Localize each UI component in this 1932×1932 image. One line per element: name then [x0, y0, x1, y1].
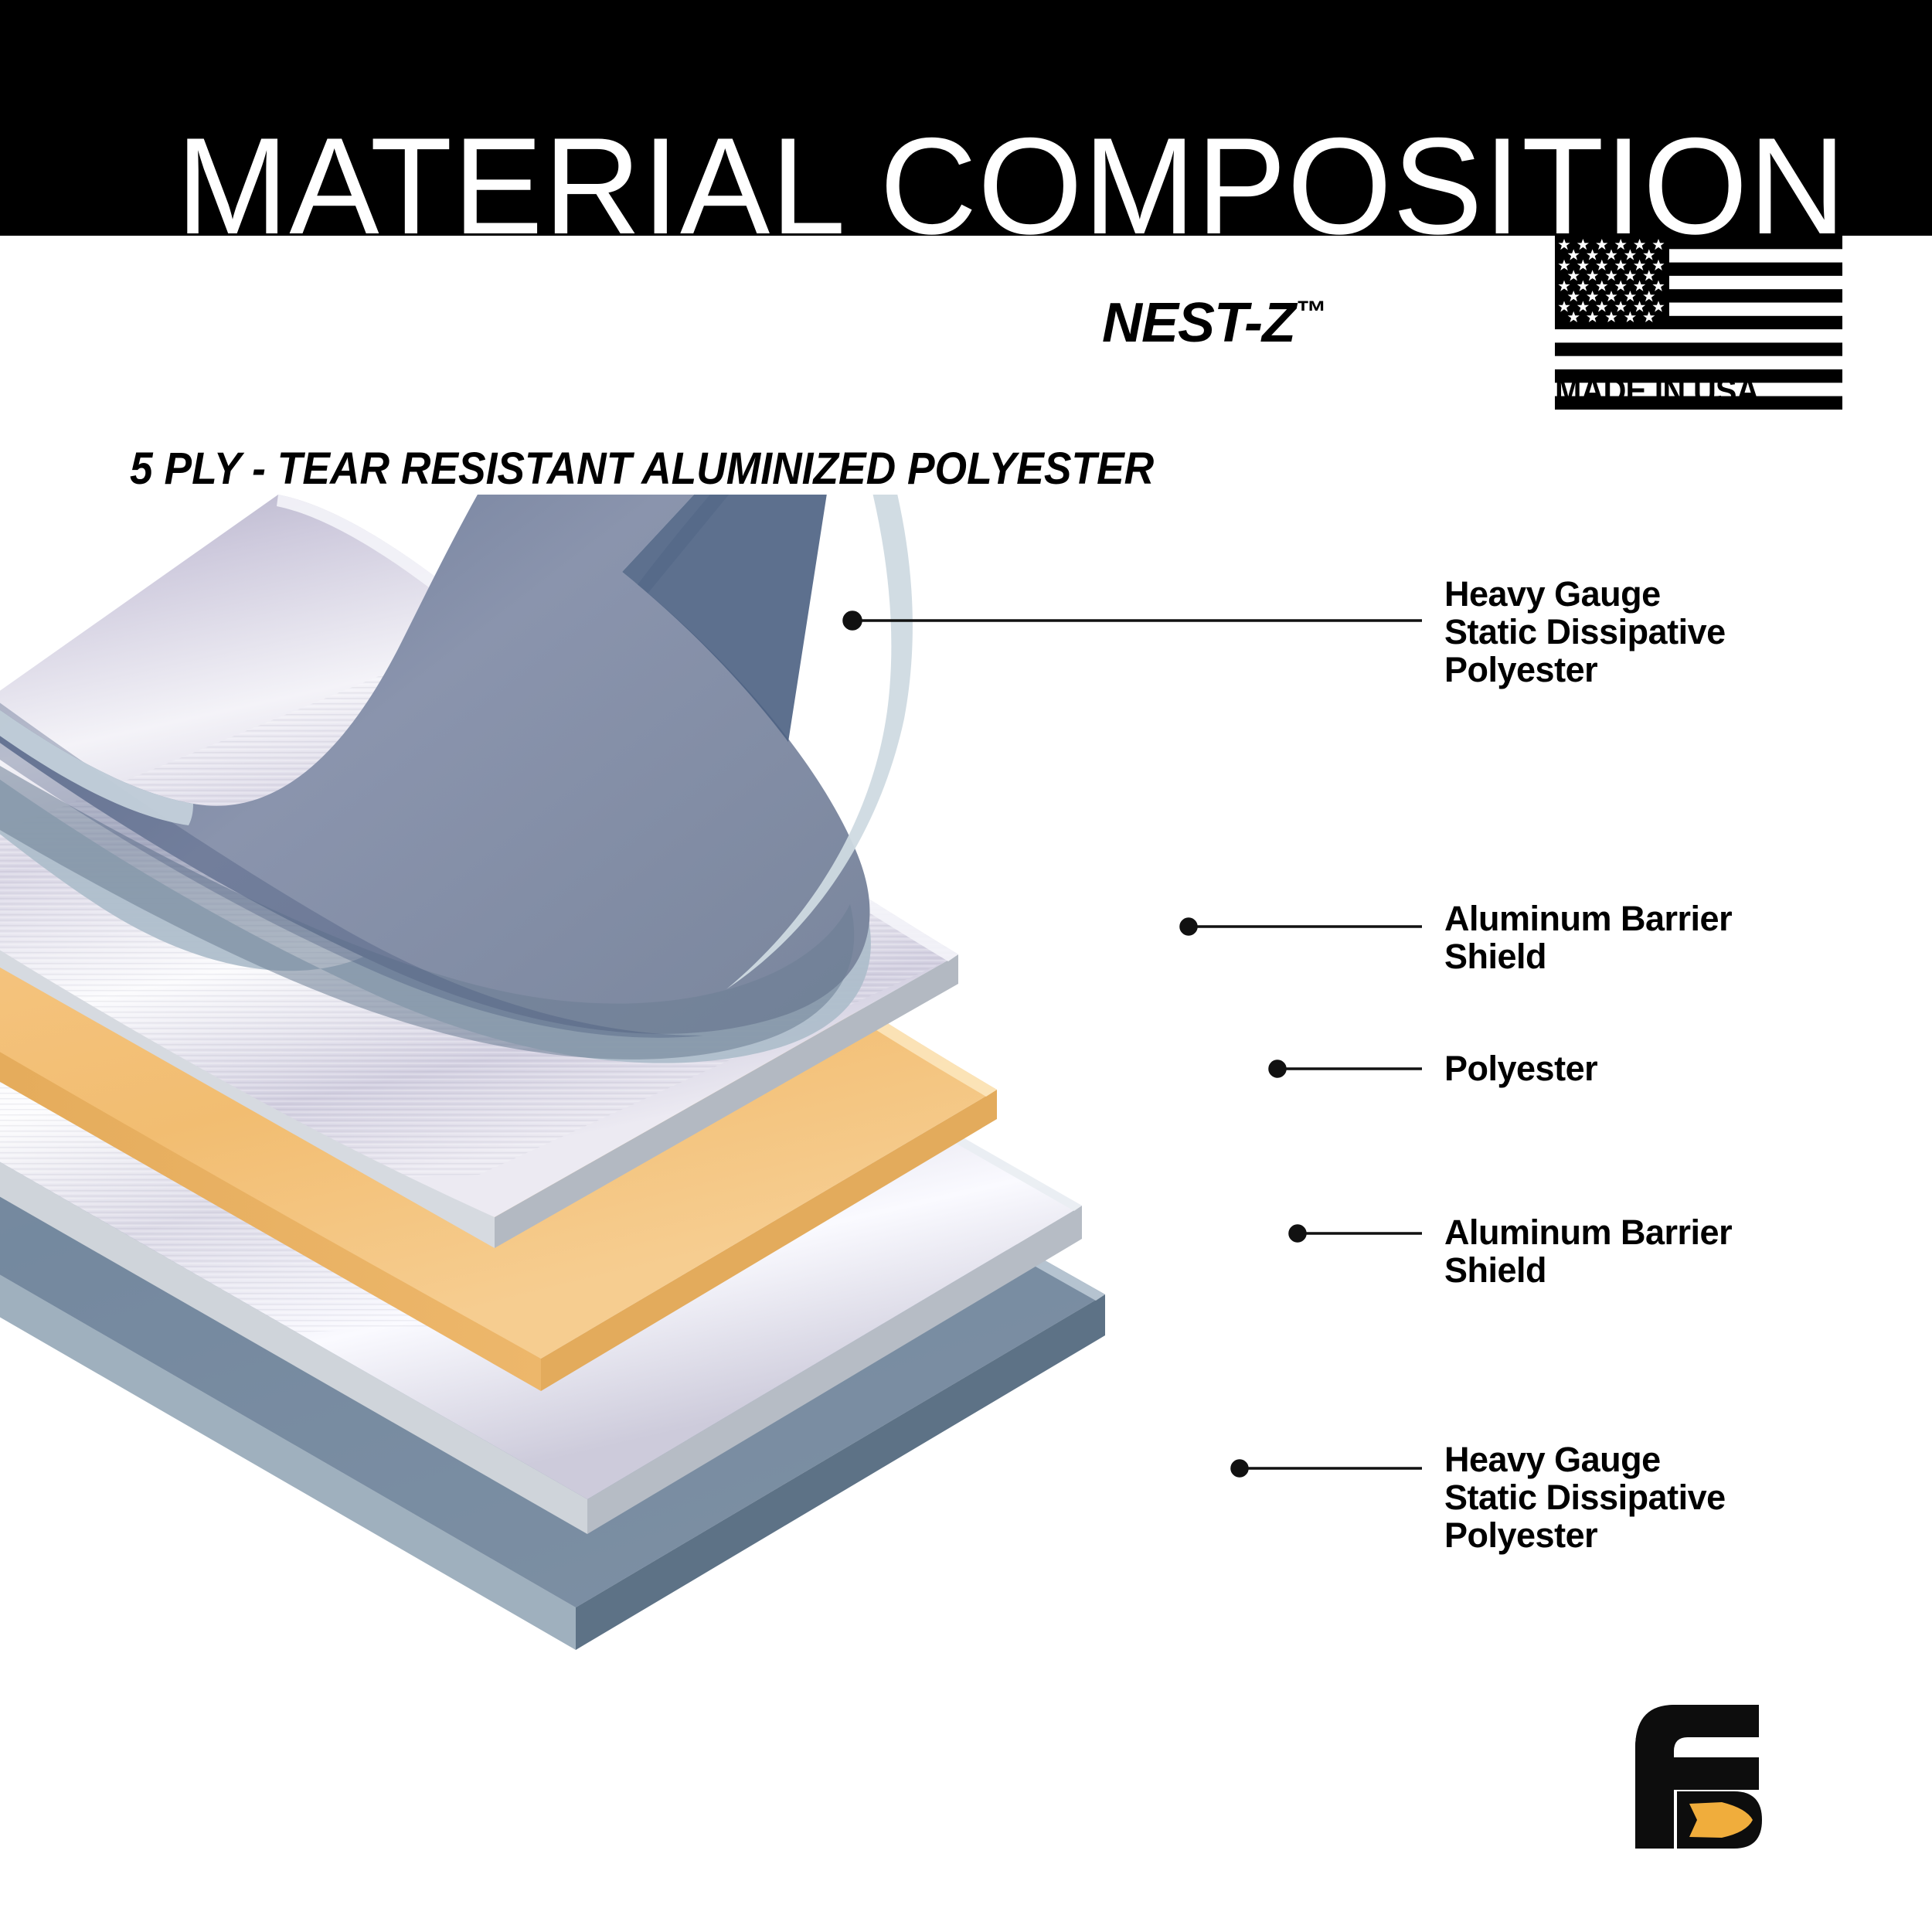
- fd-logo: [1629, 1697, 1776, 1852]
- callout-bottom-polyester: Heavy Gauge Static Dissipative Polyester: [1444, 1440, 1726, 1554]
- callout-layer: Heavy Gauge Static Dissipative Polyester…: [0, 0, 1932, 1932]
- material-composition-infographic: MATERIAL COMPOSITION NEST-Z™: [0, 0, 1932, 1932]
- callout-bottom-aluminum: Aluminum Barrier Shield: [1444, 1213, 1732, 1289]
- callout-top-aluminum: Aluminum Barrier Shield: [1444, 900, 1732, 975]
- callout-top-polyester: Heavy Gauge Static Dissipative Polyester: [1444, 575, 1726, 689]
- callout-polyester-core: Polyester: [1444, 1049, 1597, 1087]
